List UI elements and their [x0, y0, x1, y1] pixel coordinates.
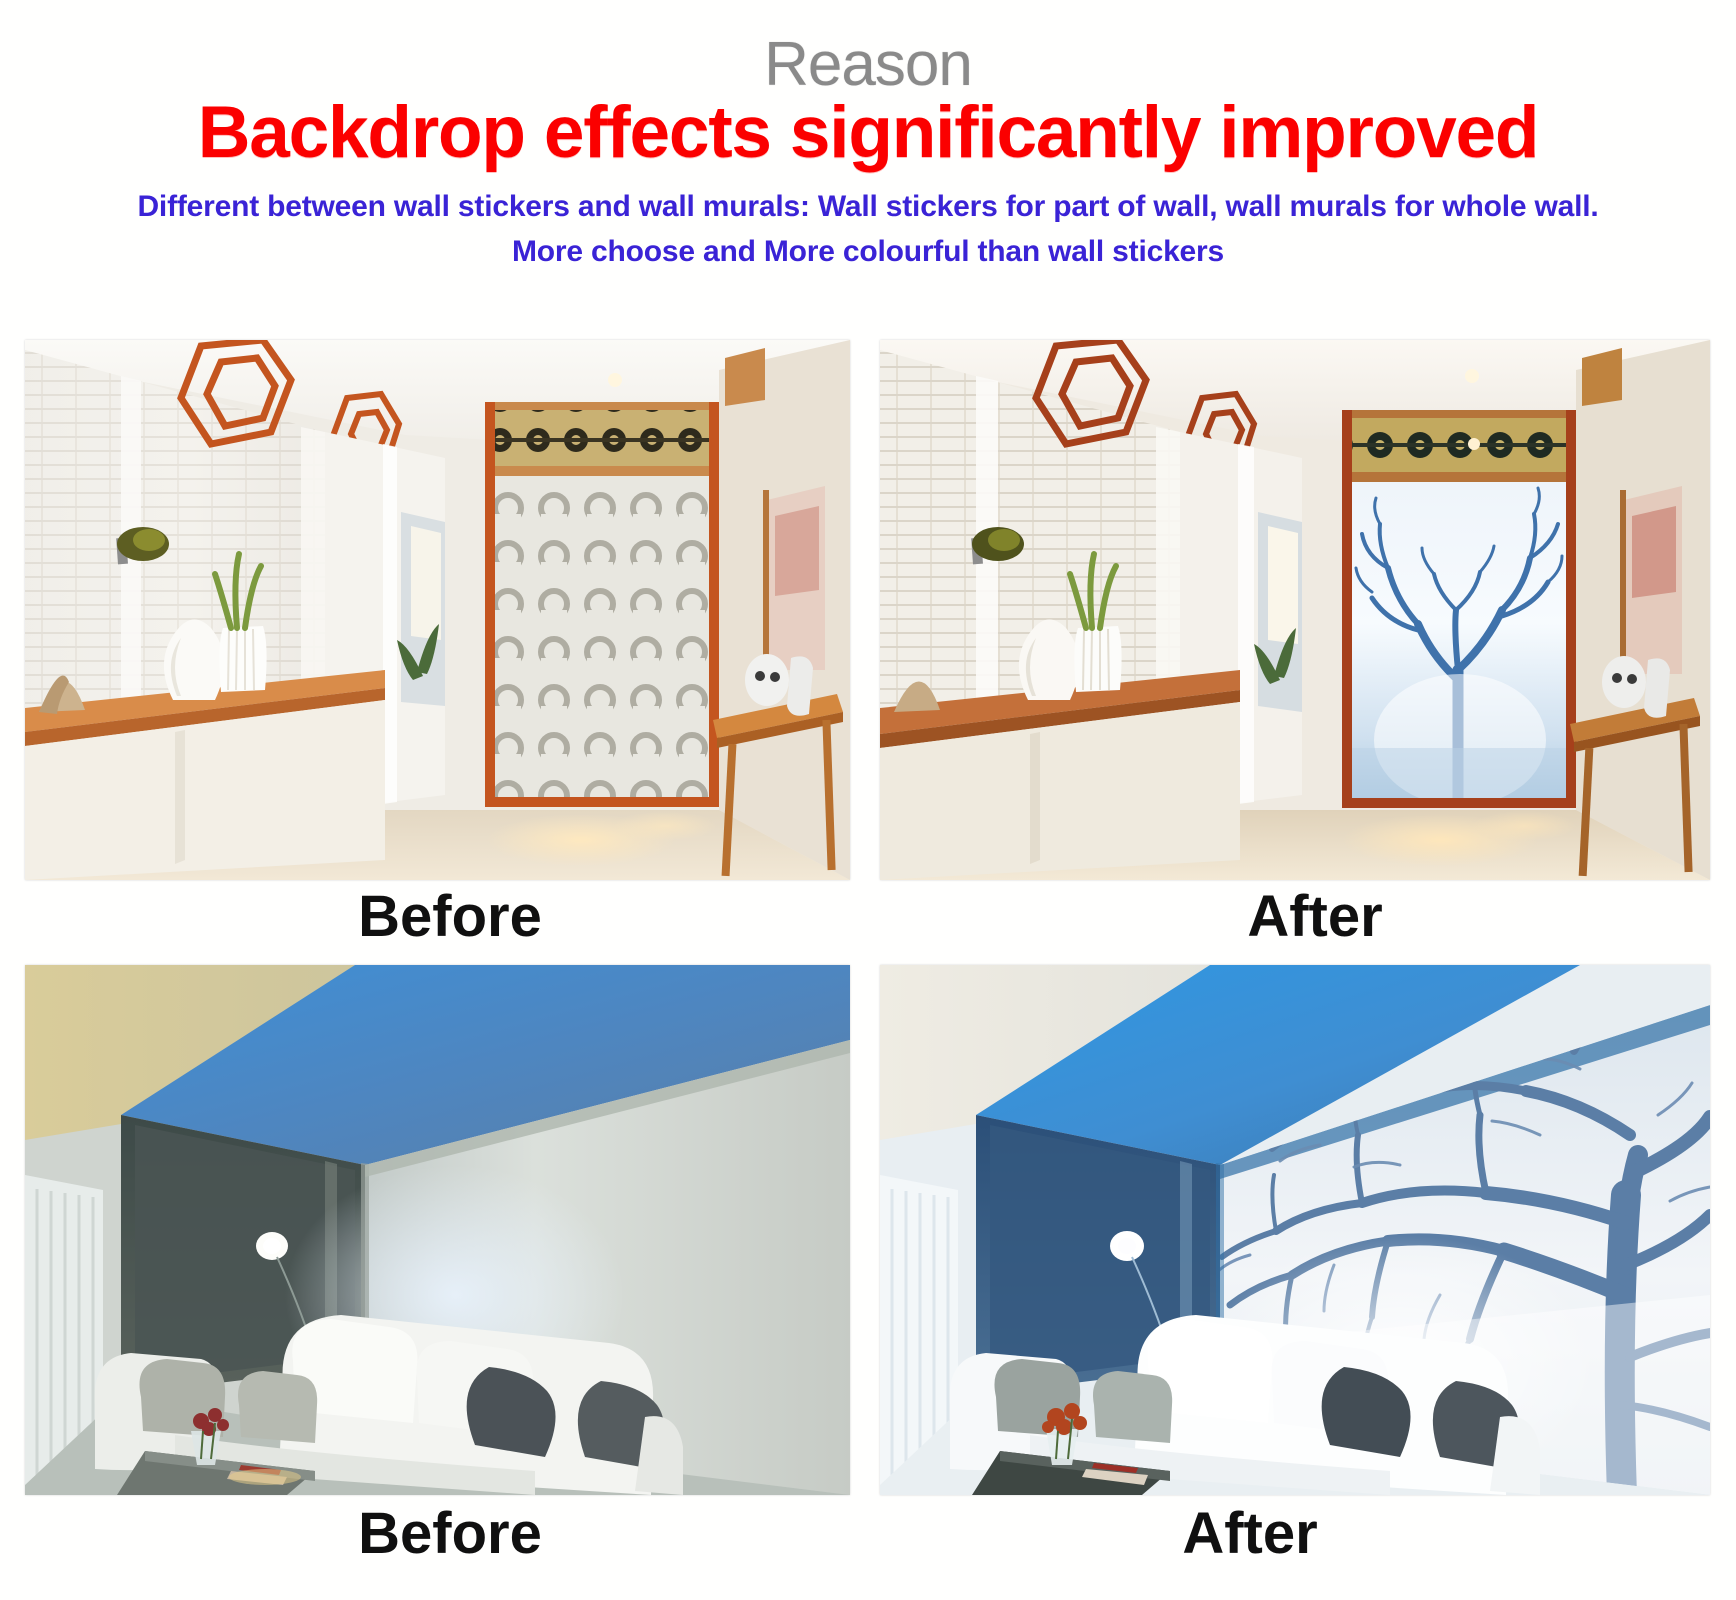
caption-after-bottom: After [880, 1505, 1620, 1563]
header-block: Reason Backdrop effects significantly im… [0, 0, 1736, 273]
caption-before-top: Before [0, 888, 900, 946]
photo-livingroom-after [880, 965, 1710, 1495]
livingroom-after-illustration [880, 965, 1710, 1495]
page-title: Backdrop effects significantly improved [0, 96, 1736, 182]
livingroom-before-illustration [25, 965, 850, 1495]
hallway-after-illustration [880, 340, 1710, 880]
photo-livingroom-before [25, 965, 850, 1495]
subtitle-line-2: More choose and More colourful than wall… [0, 231, 1736, 274]
hallway-before-illustration [25, 340, 850, 880]
promo-page: Reason Backdrop effects significantly im… [0, 0, 1736, 1600]
eyebrow-title: Reason [0, 0, 1736, 104]
caption-before-bottom: Before [0, 1505, 900, 1563]
photo-hallway-after [880, 340, 1710, 880]
caption-after-top: After [880, 888, 1736, 946]
photo-hallway-before [25, 340, 850, 880]
subtitle-line-1: Different between wall stickers and wall… [0, 186, 1736, 229]
